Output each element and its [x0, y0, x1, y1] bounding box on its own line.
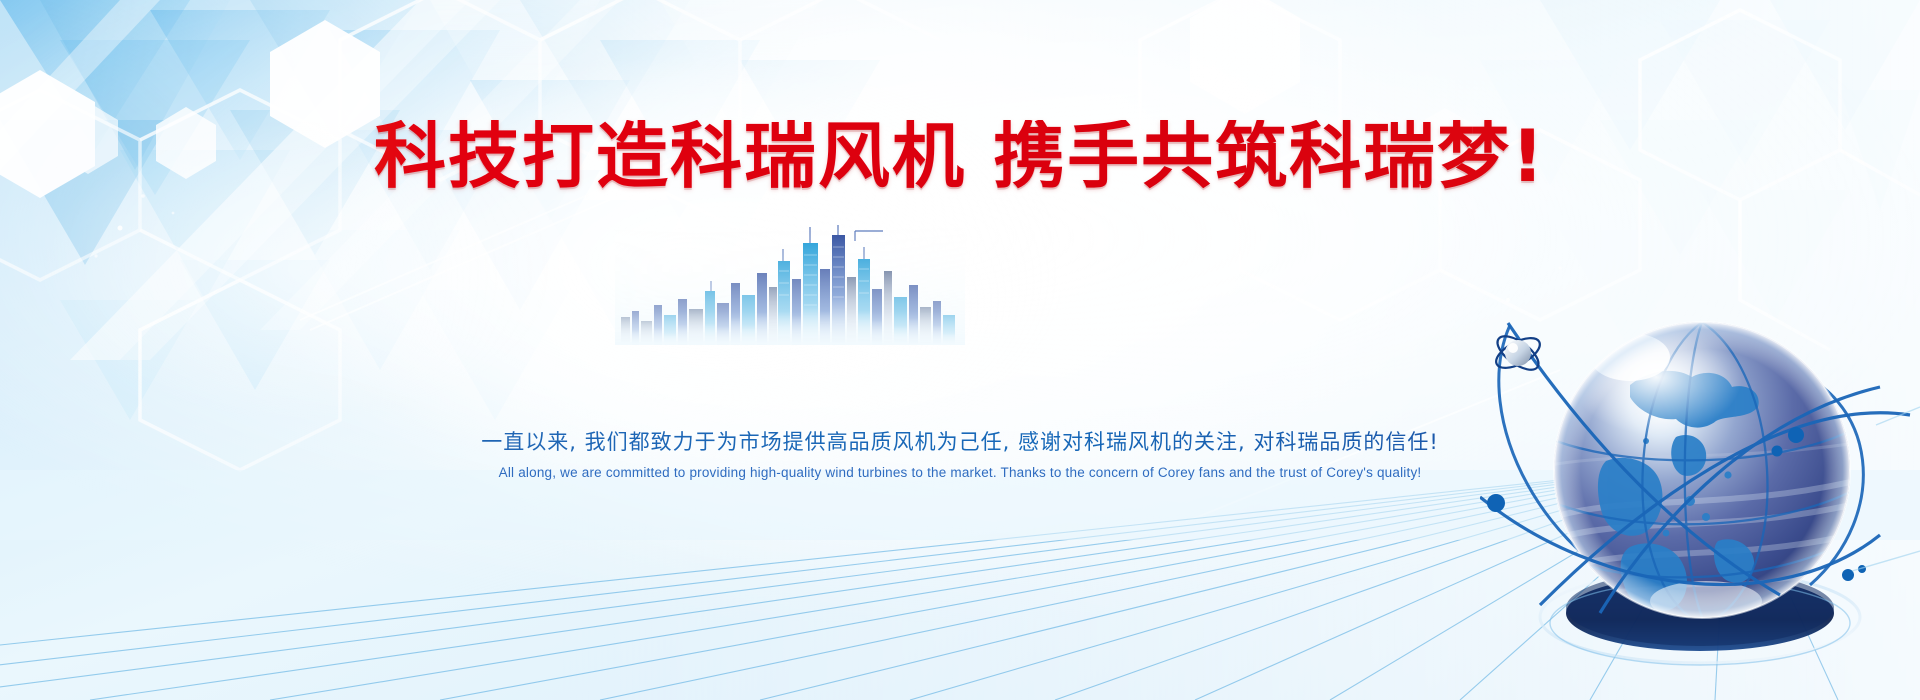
page-title: 科技打造科瑞风机 携手共筑科瑞梦!: [0, 120, 1920, 192]
promo-banner: 科技打造科瑞风机 携手共筑科瑞梦! 科技打造科瑞风机 携手共筑科瑞梦! 一直以来…: [0, 0, 1920, 700]
glass-globe-graphic: [1480, 265, 1920, 700]
city-skyline-silhouette: [615, 225, 965, 345]
